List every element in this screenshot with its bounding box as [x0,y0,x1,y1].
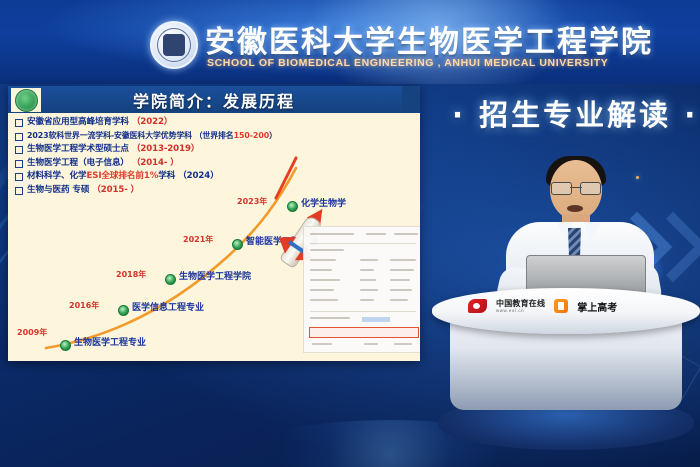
bullet-item: 材料科学、化学ESI全球排名前1%学科 （2024） [15,170,265,182]
presenter-mouth [567,205,583,212]
zsgk-logo-icon [554,299,568,313]
shirt-collar-right [584,222,601,242]
timeline-node-icon [232,239,243,250]
bullet-highlight: 150-200 [234,131,270,140]
timeline-year: 2018年 [116,269,146,280]
bullet-year: （2014- ） [132,158,179,168]
bullet-item: 2023软科世界一流学科-安徽医科大学优势学科 （世界排名150-200） [15,130,265,142]
bullet-item: 安徽省应用型高峰培育学科 （2022） [15,116,265,128]
bullet-text: 安徽省应用型高峰培育学科 （2022） [27,116,172,128]
bullet-item: 生物医学工程（电子信息） （2014- ） [15,157,265,169]
bullet-square-icon [15,160,23,168]
brand-zsgk-name: 掌上高考 [577,299,617,314]
timeline-year: 2009年 [17,327,47,338]
bullet-year: （2022） [132,117,173,127]
timeline-label: 医学信息工程专业 [132,300,204,313]
eyeglasses-icon [550,182,602,193]
presentation-slide: 学院简介：发展历程 安徽省应用型高峰培育学科 （2022）2023软科世界一流学… [8,86,420,361]
eol-logo-icon [468,299,487,313]
broadcast-screen: 安徽医科大学生物医学工程学院 SCHOOL OF BIOMEDICAL ENGI… [0,0,700,467]
brand-eol-name: 中国教育在线 [496,300,545,308]
ranking-screenshot [303,226,420,353]
bullet-square-icon [15,119,23,127]
bullet-text: 生物医学工程学术型硕士点 （2013-2019） [27,143,199,155]
bullet-list: 安徽省应用型高峰培育学科 （2022）2023软科世界一流学科-安徽医科大学优势… [15,116,265,197]
header-banner: 安徽医科大学生物医学工程学院 SCHOOL OF BIOMEDICAL ENGI… [0,0,700,84]
bullet-text: 生物与医药 专硕 （2015- ） [27,184,139,196]
timeline-year: 2016年 [69,300,99,311]
bullet-year: （2015- ） [92,185,139,195]
timeline-node-icon [118,305,129,316]
university-name-cn: 安徽医科大学生物医学工程学院 [205,17,653,61]
bullet-item: 生物与医药 专硕 （2015- ） [15,184,265,196]
university-name-en: SCHOOL OF BIOMEDICAL ENGINEERING , ANHUI… [207,57,608,69]
bullet-text: 生物医学工程（电子信息） （2014- ） [27,157,179,169]
timeline-year: 2021年 [183,234,213,245]
bullet-square-icon [15,187,23,195]
bullet-square-icon [15,173,23,181]
slide-title: 学院简介：发展历程 [8,88,420,112]
timeline-label: 生物医学工程专业 [74,335,146,348]
timeline-node-icon [60,340,71,351]
bullet-text: 2023软科世界一流学科-安徽医科大学优势学科 （世界排名150-200） [27,130,277,142]
bullet-highlight: ESI全球排名前1% [86,171,158,181]
timeline-year: 2023年 [237,196,267,207]
sponsor-logo-strip: 中国教育在线 www.eol.cn 掌上高考 [468,296,668,316]
bullet-year: （2013-2019） [132,144,200,154]
brand-eol-url: www.eol.cn [496,308,545,313]
bullet-item: 生物医学工程学术型硕士点 （2013-2019） [15,143,265,155]
timeline-label: 生物医学工程学院 [179,269,251,282]
bullet-text: 材料科学、化学ESI全球排名前1%学科 （2024） [27,170,219,182]
podium: 中国教育在线 www.eol.cn 掌上高考 [432,288,700,467]
program-title: · 招生专业解读 · [452,92,698,134]
bullet-square-icon [15,146,23,154]
timeline-node-icon [165,274,176,285]
bullet-square-icon [15,133,23,141]
university-seal-icon [150,21,198,69]
